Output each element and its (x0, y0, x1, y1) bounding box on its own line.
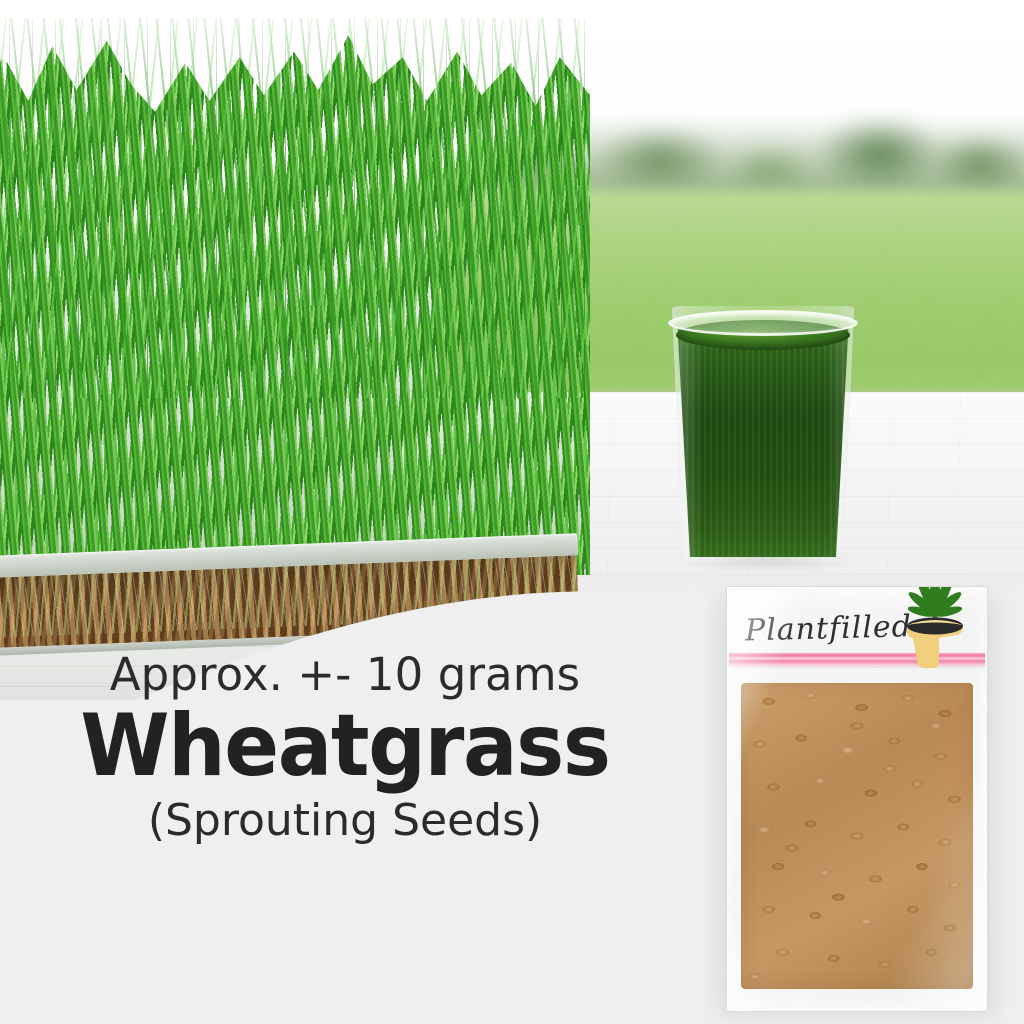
product-subtitle: (Sprouting Seeds) (0, 795, 690, 846)
wheat-seeds-fill (741, 683, 973, 989)
ziplock-bag: Plantfilled (726, 586, 988, 1012)
wheatgrass-juice-glass (668, 306, 858, 562)
product-image-card: Approx. +- 10 grams Wheatgrass (Sproutin… (0, 0, 1024, 1024)
wheatgrass-growing-tray (0, 0, 590, 680)
page-title: Wheatgrass (21, 703, 670, 791)
grass-blade-tips (0, 18, 590, 398)
plantfilled-logo (887, 586, 983, 671)
potted-plant-icon (887, 586, 983, 671)
juice-liquid (674, 328, 852, 557)
quantity-line: Approx. +- 10 grams (0, 648, 690, 701)
seed-packet: Plantfilled (726, 586, 988, 1012)
product-text-block: Approx. +- 10 grams Wheatgrass (Sproutin… (0, 648, 690, 846)
glass-rim (668, 310, 858, 336)
glass-body (668, 306, 858, 562)
